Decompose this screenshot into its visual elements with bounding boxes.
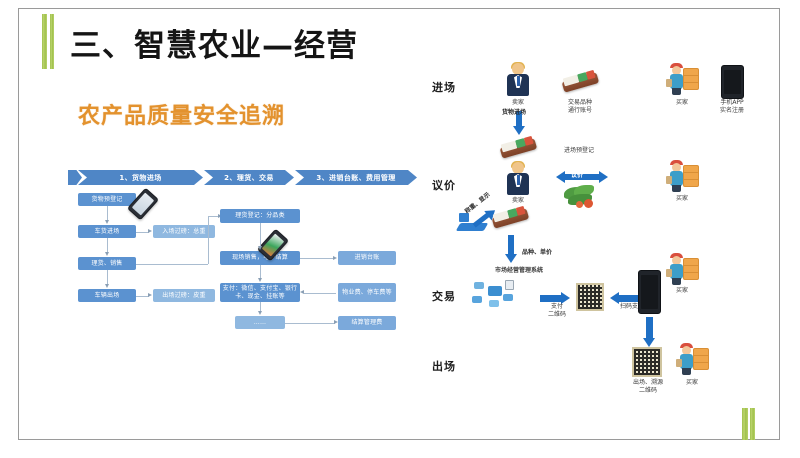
caption-pay-qr: 支付二维码 bbox=[534, 303, 580, 319]
connector-arrow bbox=[258, 311, 262, 315]
connector-line bbox=[260, 302, 261, 311]
arrow-pay-qr-shaft bbox=[540, 295, 562, 302]
connector-arrow bbox=[334, 320, 338, 324]
diagram-row-label-trade: 交易 bbox=[432, 288, 456, 304]
connector-arrow bbox=[258, 246, 262, 250]
caption-pre-register: 进场预登记 bbox=[552, 147, 606, 155]
green-accent-bar-left-outer bbox=[42, 14, 47, 69]
diagram-row-label-entry: 进场 bbox=[432, 79, 456, 95]
buyer-figure-icon-2 bbox=[666, 160, 700, 192]
flow-node-ellipsis: …… bbox=[235, 316, 285, 329]
goods-truck-icon-1 bbox=[560, 68, 599, 93]
stage-banner-1: 1、货物进场 bbox=[78, 170, 203, 185]
market-management-system-icon bbox=[472, 278, 520, 312]
flow-node-payment-methods: 支付：微信、支付宝、银行卡、现金、挂账等 bbox=[220, 283, 300, 302]
green-accent-bar-bottom-inner bbox=[750, 408, 755, 440]
connector-line bbox=[107, 206, 108, 220]
caption-variety-price: 品种、单价 bbox=[522, 247, 552, 256]
goods-truck-icon-3 bbox=[490, 204, 529, 229]
buyer-figure-icon-4 bbox=[676, 343, 710, 375]
caption-exit-qr: 出场、溯源二维码 bbox=[620, 379, 676, 395]
caption-mobile-app: 手机APP实名注册 bbox=[710, 99, 754, 115]
flow-node-pre-register: 货物预登记 bbox=[78, 193, 136, 206]
seller-figure-icon-1 bbox=[505, 63, 531, 97]
slide-canvas: 三、智慧农业—经营 农产品质量安全追溯 1、货物进场 2、理货、交易 3、进销台… bbox=[0, 0, 800, 458]
connector-line bbox=[300, 258, 334, 259]
connector-arrow bbox=[105, 252, 109, 256]
connector-arrow bbox=[333, 256, 337, 260]
connector-arrow bbox=[148, 293, 152, 297]
caption-seller-2: 卖家 bbox=[498, 197, 538, 205]
connector-arrow bbox=[105, 284, 109, 288]
flow-node-vehicle-entry: 车货进场 bbox=[78, 225, 136, 238]
green-accent-bar-bottom-outer bbox=[742, 408, 748, 440]
diagram-row-label-exit: 出场 bbox=[432, 358, 456, 374]
connector-line bbox=[260, 265, 261, 278]
buyer-mobile-phone-icon bbox=[638, 270, 661, 314]
seller-figure-icon-2 bbox=[505, 162, 531, 196]
connector-arrow bbox=[300, 290, 304, 294]
connector-line bbox=[107, 270, 108, 284]
flow-node-sorting-register: 理货登记：分品类 bbox=[220, 209, 300, 223]
connector-arrow bbox=[258, 278, 262, 282]
connector-line bbox=[285, 323, 335, 324]
flow-node-entry-weigh: 入场过磅：总重 bbox=[153, 225, 215, 238]
connector-line bbox=[208, 216, 209, 264]
stage-banner-3: 3、进销台账、费用管理 bbox=[295, 170, 417, 185]
arrow-variety-price-head bbox=[505, 254, 517, 263]
connector-arrow bbox=[148, 229, 152, 233]
connector-line bbox=[260, 223, 261, 246]
exit-traceability-qr-code bbox=[632, 347, 662, 377]
caption-trade-variety: 交易品种通行账号 bbox=[552, 99, 608, 115]
payment-qr-code bbox=[576, 283, 604, 311]
stage-banner-2: 2、理货、交易 bbox=[204, 170, 294, 185]
connector-line bbox=[304, 293, 336, 294]
caption-buyer-4: 买家 bbox=[674, 379, 710, 387]
arrow-exit-head bbox=[643, 338, 655, 347]
section-subtitle: 农产品质量安全追溯 bbox=[78, 98, 285, 130]
caption-negotiate: 议价 bbox=[571, 170, 583, 179]
flow-node-ledger: 进销台账 bbox=[338, 251, 396, 265]
caption-goods-entry: 货物进场 bbox=[502, 107, 526, 116]
flow-node-sorting-sales: 理货、销售 bbox=[78, 257, 136, 270]
caption-buyer-3: 买家 bbox=[664, 287, 700, 295]
trade-process-diagram: 进场 议价 交易 出场 卖家 交易品种通行账号 货物进场 进场预登记 买家 手机… bbox=[430, 55, 775, 395]
caption-buyer-1: 买家 bbox=[664, 99, 700, 107]
arrow-variety-price-shaft bbox=[508, 235, 514, 255]
connector-line bbox=[136, 264, 208, 265]
mobile-phone-icon-app bbox=[721, 65, 744, 99]
flow-node-onsite-sales: 现场销售，电子结算 bbox=[220, 251, 300, 265]
connector-arrow bbox=[105, 220, 109, 224]
negotiate-arrow-right-head bbox=[599, 171, 608, 183]
flow-node-exit-weigh: 出场过磅：皮重 bbox=[153, 289, 215, 302]
goods-truck-icon-2 bbox=[498, 134, 537, 159]
connector-line bbox=[107, 238, 108, 252]
vegetables-icon bbox=[562, 185, 604, 211]
diagram-row-label-negotiate: 议价 bbox=[432, 177, 456, 193]
process-flow-chart: 1、货物进场 2、理货、交易 3、进销台账、费用管理 货物预登记 车货进场 理货… bbox=[68, 168, 423, 348]
caption-market-system: 市场经营管理系统 bbox=[464, 267, 574, 275]
flow-node-vehicle-exit: 车辆出场 bbox=[78, 289, 136, 302]
buyer-figure-icon-1 bbox=[666, 63, 700, 95]
page-title: 三、智慧农业—经营 bbox=[70, 20, 358, 65]
buyer-figure-icon-3 bbox=[666, 253, 700, 285]
caption-seller-1: 卖家 bbox=[498, 99, 538, 107]
caption-buyer-2: 买家 bbox=[664, 195, 700, 203]
flow-node-settlement-fee: 结算管理费 bbox=[338, 316, 396, 330]
arrow-exit-shaft bbox=[646, 317, 653, 339]
stage-banner-tip-icon bbox=[68, 170, 82, 185]
flow-node-fees: 物业费、停车费等 bbox=[338, 283, 396, 302]
arrow-goods-entry-head bbox=[513, 126, 525, 135]
green-accent-bar-left-inner bbox=[50, 14, 54, 69]
